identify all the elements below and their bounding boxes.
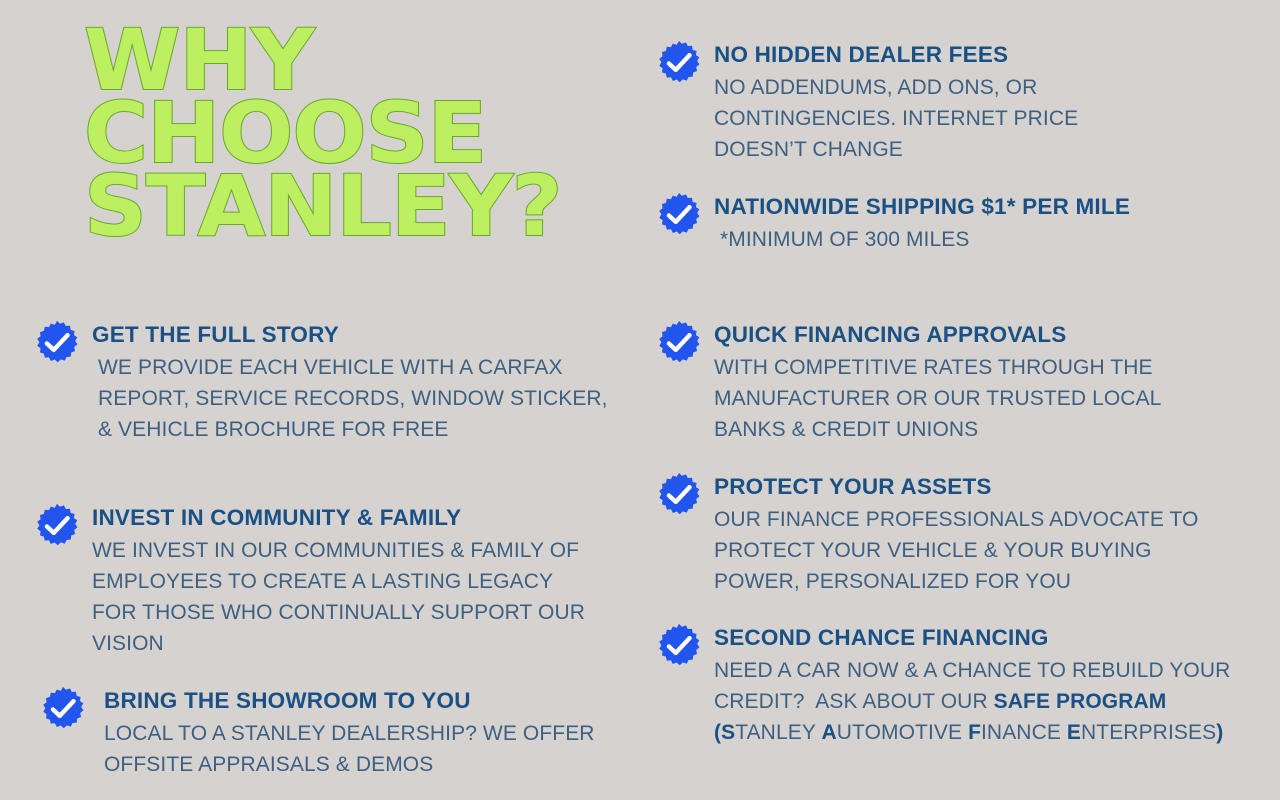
- feature-text: SECOND CHANCE FINANCING NEED A CAR NOW &…: [714, 621, 1236, 748]
- verified-check-icon: [34, 503, 80, 549]
- verified-check-icon: [656, 320, 702, 366]
- feature-text: PROTECT YOUR ASSETS OUR FINANCE PROFESSI…: [714, 470, 1236, 597]
- feature-text: NO HIDDEN DEALER FEES NO ADDENDUMS, ADD …: [714, 38, 1176, 165]
- feature-body: *MINIMUM OF 300 MILES: [714, 224, 1130, 255]
- feature-text: GET THE FULL STORY WE PROVIDE EACH VEHIC…: [92, 318, 614, 445]
- feature-heading: NATIONWIDE SHIPPING $1* PER MILE: [714, 190, 1130, 224]
- feature-invest-in-community-and-family: INVEST IN COMMUNITY & FAMILY WE INVEST I…: [34, 501, 594, 659]
- feature-get-the-full-story: GET THE FULL STORY WE PROVIDE EACH VEHIC…: [34, 318, 614, 445]
- feature-body: OUR FINANCE PROFESSIONALS ADVOCATE TO PR…: [714, 504, 1236, 597]
- feature-body: WE INVEST IN OUR COMMUNITIES & FAMILY OF…: [92, 535, 594, 659]
- feature-heading: GET THE FULL STORY: [92, 318, 614, 352]
- feature-protect-your-assets: PROTECT YOUR ASSETS OUR FINANCE PROFESSI…: [656, 470, 1236, 597]
- feature-no-hidden-dealer-fees: NO HIDDEN DEALER FEES NO ADDENDUMS, ADD …: [656, 38, 1176, 165]
- verified-check-icon: [656, 192, 702, 238]
- feature-text: QUICK FINANCING APPROVALS WITH COMPETITI…: [714, 318, 1236, 445]
- feature-heading: SECOND CHANCE FINANCING: [714, 621, 1236, 655]
- feature-body: WE PROVIDE EACH VEHICLE WITH A CARFAX RE…: [92, 352, 614, 445]
- headline-line-3: STANLEY?: [84, 170, 625, 243]
- feature-heading: PROTECT YOUR ASSETS: [714, 470, 1236, 504]
- feature-heading: INVEST IN COMMUNITY & FAMILY: [92, 501, 594, 535]
- feature-text: BRING THE SHOWROOM TO YOU LOCAL TO A STA…: [98, 684, 610, 780]
- verified-check-icon: [656, 40, 702, 86]
- feature-quick-financing-approvals: QUICK FINANCING APPROVALS WITH COMPETITI…: [656, 318, 1236, 445]
- feature-second-chance-financing: SECOND CHANCE FINANCING NEED A CAR NOW &…: [656, 621, 1236, 748]
- poster-canvas: WHY CHOOSE STANLEY? GET THE FULL STORY W…: [0, 0, 1280, 800]
- verified-check-icon: [34, 320, 80, 366]
- feature-bring-the-showroom-to-you: BRING THE SHOWROOM TO YOU LOCAL TO A STA…: [40, 684, 610, 780]
- feature-body: NO ADDENDUMS, ADD ONS, OR CONTINGENCIES.…: [714, 72, 1176, 165]
- feature-body: LOCAL TO A STANLEY DEALERSHIP? WE OFFER …: [98, 718, 610, 780]
- feature-body: WITH COMPETITIVE RATES THROUGH THE MANUF…: [714, 352, 1236, 445]
- feature-text: NATIONWIDE SHIPPING $1* PER MILE *MINIMU…: [714, 190, 1130, 255]
- feature-body: NEED A CAR NOW & A CHANCE TO REBUILD YOU…: [714, 655, 1236, 748]
- feature-heading: QUICK FINANCING APPROVALS: [714, 318, 1236, 352]
- feature-nationwide-shipping: NATIONWIDE SHIPPING $1* PER MILE *MINIMU…: [656, 190, 1196, 255]
- verified-check-icon: [656, 623, 702, 669]
- page-title: WHY CHOOSE STANLEY?: [84, 24, 604, 243]
- verified-check-icon: [40, 686, 86, 732]
- verified-check-icon: [656, 472, 702, 518]
- feature-heading: BRING THE SHOWROOM TO YOU: [98, 684, 610, 718]
- feature-heading: NO HIDDEN DEALER FEES: [714, 38, 1176, 72]
- feature-text: INVEST IN COMMUNITY & FAMILY WE INVEST I…: [92, 501, 594, 659]
